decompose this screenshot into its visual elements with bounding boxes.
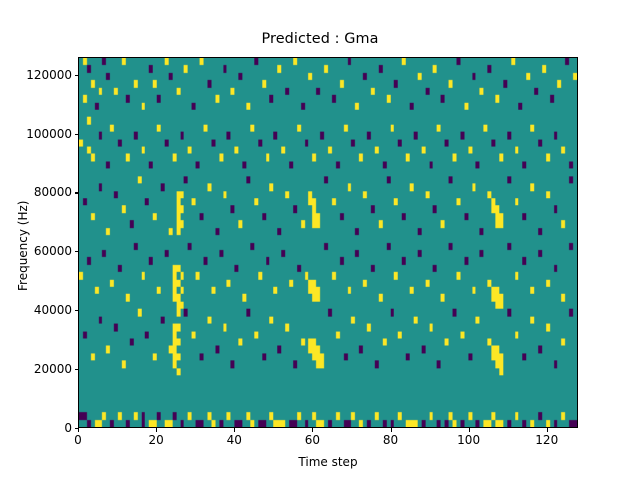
x-tick-mark (312, 428, 313, 432)
x-tick-label: 60 (305, 433, 320, 447)
heatmap-canvas (79, 58, 577, 427)
plot-title: Predicted : Gma (0, 31, 640, 47)
x-axis-label: Time step (78, 455, 578, 469)
y-tick-label: 120000 (0, 68, 72, 82)
x-tick-label: 0 (74, 433, 82, 447)
y-tick-label: 100000 (0, 127, 72, 141)
x-tick-mark (391, 428, 392, 432)
x-tick-mark (234, 428, 235, 432)
x-tick-mark (469, 428, 470, 432)
y-tick-label: 20000 (0, 362, 72, 376)
heatmap-axes (78, 57, 578, 428)
x-tick-label: 40 (227, 433, 242, 447)
y-tick-mark (75, 310, 79, 311)
x-tick-label: 120 (535, 433, 558, 447)
x-tick-label: 20 (148, 433, 163, 447)
y-tick-mark (75, 75, 79, 76)
x-tick-mark (78, 428, 79, 432)
y-tick-mark (75, 134, 79, 135)
y-tick-label: 0 (0, 421, 72, 435)
y-tick-label: 60000 (0, 244, 72, 258)
y-axis-label: Frequency (Hz) (16, 201, 30, 292)
y-tick-label: 80000 (0, 185, 72, 199)
y-tick-mark (75, 369, 79, 370)
matplotlib-figure: Predicted : Gma 020000400006000080000100… (0, 0, 640, 480)
x-tick-label: 100 (457, 433, 480, 447)
y-tick-mark (75, 192, 79, 193)
x-tick-mark (156, 428, 157, 432)
x-tick-label: 80 (383, 433, 398, 447)
y-tick-mark (75, 251, 79, 252)
x-tick-mark (547, 428, 548, 432)
y-tick-label: 40000 (0, 303, 72, 317)
